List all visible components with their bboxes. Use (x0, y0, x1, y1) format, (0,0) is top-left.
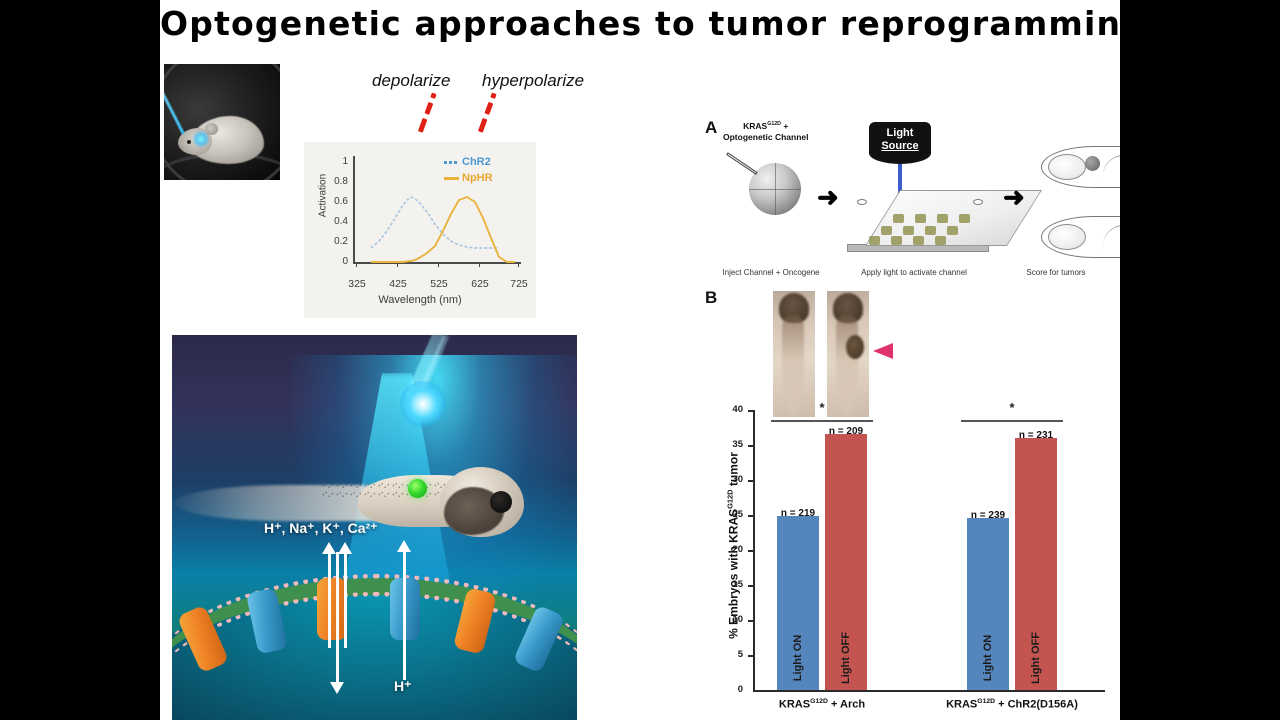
plate-well (903, 226, 914, 235)
significance-star-group-2: * (1009, 400, 1014, 415)
ion-flux-arrow-down-head (330, 682, 344, 694)
n-label-chr2-light-on: n = 239 (971, 510, 1005, 521)
bar-ytick-25: 25 (717, 509, 743, 520)
bar-ytick-15: 15 (717, 579, 743, 590)
legend-swatch-nphr (444, 177, 459, 180)
light-beam-spot (400, 381, 446, 427)
experiment-figure: A KRASG12D + Optogenetic Channel ➜ Light… (705, 118, 1115, 718)
tumor-incidence-bar-chart: % Embryos with KRASG12D tumor 40 35 30 2… (705, 408, 1115, 718)
category-label-chr2: KRASG12D + ChR2(D156A) (946, 698, 1078, 711)
legend-item-chr2: ChR2 (444, 156, 491, 168)
legend-label-chr2: ChR2 (462, 156, 491, 168)
cell-membrane-diagram: H⁺, Na⁺, K⁺, Ca²⁺ H⁺ (172, 560, 577, 720)
bar-label-chr2-light-off: Light OFF (1030, 632, 1042, 684)
panel-a-letter: A (705, 118, 717, 138)
ion-flux-arrow-up-head (322, 542, 336, 554)
panel-a-caption-2: Apply light to activate channel (839, 268, 989, 277)
bar-ytick-5: 5 (717, 649, 743, 660)
inject-label-plus: + (781, 121, 788, 131)
depolarize-label: depolarize (372, 71, 450, 91)
activation-spectrum-chart: Activation 1 0.8 0.6 0.4 0.2 0 325 425 5… (304, 142, 536, 318)
page-title: Optogenetic approaches to tumor reprogra… (160, 4, 1120, 43)
cat-0-suffix: + Arch (828, 699, 865, 711)
tumor-blob-icon (1085, 156, 1100, 171)
bar-arch-light-on: Light ON (777, 516, 819, 690)
n-label-arch-light-on: n = 219 (781, 508, 815, 519)
chr2-activation-curve (371, 197, 499, 248)
tadpole-optogenetics-illustration: H⁺, Na⁺, K⁺, Ca²⁺ H⁺ (172, 335, 577, 720)
ion-species-label-bottom: H⁺ (394, 678, 412, 695)
significance-bar-group-1 (771, 420, 873, 422)
plate-hole-right (973, 199, 983, 205)
bar-label-arch-light-off: Light OFF (840, 632, 852, 684)
inject-label-kras: KRAS (743, 121, 767, 131)
cat-1-suffix: + ChR2(D156A) (995, 699, 1078, 711)
gfp-tumor-spot (408, 479, 427, 498)
proton-flux-arrow-head (397, 540, 411, 552)
hyperpolarize-dashed-arrow (478, 93, 495, 132)
y-title-sup: G12D (726, 489, 735, 508)
light-source-line2: Source (881, 140, 918, 152)
fiber-light-glow (192, 130, 210, 148)
light-source-box: Light Source (869, 122, 931, 164)
light-source-line1: Light (887, 127, 914, 139)
letterbox-right (1120, 0, 1280, 720)
bar-label-arch-light-on: Light ON (792, 635, 804, 681)
cat-1-prefix: KRAS (946, 699, 977, 711)
ion-flux-arrow-up-shaft-2 (344, 552, 347, 648)
proton-flux-arrow-shaft (403, 550, 406, 680)
mouse-photo (164, 64, 280, 180)
category-label-arch: KRASG12D + Arch (779, 698, 865, 711)
bar-chart-y-axis (753, 410, 755, 691)
n-label-chr2-light-off: n = 231 (1019, 430, 1053, 441)
plate-well (881, 226, 892, 235)
ion-flux-arrow-up-shaft (328, 552, 331, 648)
inject-construct-label: KRASG12D + Optogenetic Channel (723, 121, 808, 142)
significance-bar-group-2 (961, 420, 1063, 422)
bar-ytick-40: 40 (717, 404, 743, 415)
panel-a-caption-1: Inject Channel + Oncogene (707, 268, 835, 277)
cat-0-sup: G12D (810, 698, 828, 705)
tadpole-photo-light-on (773, 291, 815, 417)
tadpole-eye-shape (490, 491, 512, 513)
panel-a-caption-3: Score for tumors (1001, 268, 1111, 277)
bar-arch-light-off: Light OFF (825, 434, 867, 690)
plate-well (935, 236, 946, 245)
bar-ytick-10: 10 (717, 614, 743, 625)
bar-ytick-30: 30 (717, 474, 743, 485)
depolarize-dashed-arrow (418, 93, 435, 132)
significance-star-group-1: * (819, 400, 824, 415)
bar-label-chr2-light-on: Light ON (982, 635, 994, 681)
plate-well (959, 214, 970, 223)
inject-label-channel: Optogenetic Channel (723, 132, 808, 142)
plate-well (915, 214, 926, 223)
cat-1-sup: G12D (977, 698, 995, 705)
cat-0-prefix: KRAS (779, 699, 810, 711)
hyperpolarize-label: hyperpolarize (482, 71, 584, 91)
ion-flux-arrow-down-shaft (336, 552, 339, 684)
workflow-arrow-1: ➜ (817, 184, 839, 210)
slide-canvas: Optogenetic approaches to tumor reprogra… (160, 0, 1120, 720)
tadpole-photo-light-off (827, 291, 869, 417)
plate-well (913, 236, 924, 245)
slide-root: Optogenetic approaches to tumor reprogra… (0, 0, 1280, 720)
bar-ytick-20: 20 (717, 544, 743, 555)
plate-hole-left (857, 199, 867, 205)
plate-well (891, 236, 902, 245)
ion-flux-arrow-up-head-2 (338, 542, 352, 554)
panel-b-letter: B (705, 288, 717, 308)
inject-label-g12d: G12D (767, 121, 781, 127)
spectrum-curves-svg (304, 142, 536, 318)
legend-swatch-chr2 (444, 161, 459, 164)
plate-well (937, 214, 948, 223)
n-label-arch-light-off: n = 209 (829, 426, 863, 437)
bar-chart-x-axis (753, 690, 1105, 692)
plate-well (925, 226, 936, 235)
plate-well (947, 226, 958, 235)
plate-well (893, 214, 904, 223)
bar-chr2-light-on: Light ON (967, 518, 1009, 690)
mouse-eye-shape (187, 140, 191, 144)
legend-item-nphr: NpHR (444, 172, 493, 184)
workflow-arrow-2: ➜ (1003, 184, 1025, 210)
injection-needle-icon (726, 152, 758, 175)
nphr-activation-curve (371, 197, 515, 262)
tumor-pointer-arrowhead (873, 343, 893, 359)
bar-ytick-0: 0 (717, 684, 743, 695)
ion-species-label-top: H⁺, Na⁺, K⁺, Ca²⁺ (264, 520, 378, 537)
bar-chr2-light-off: Light OFF (1015, 438, 1057, 690)
proton-pump-channel-3 (317, 578, 347, 640)
plate-well (869, 236, 880, 245)
bar-ytick-35: 35 (717, 439, 743, 450)
letterbox-left (0, 0, 160, 720)
legend-label-nphr: NpHR (462, 172, 493, 184)
